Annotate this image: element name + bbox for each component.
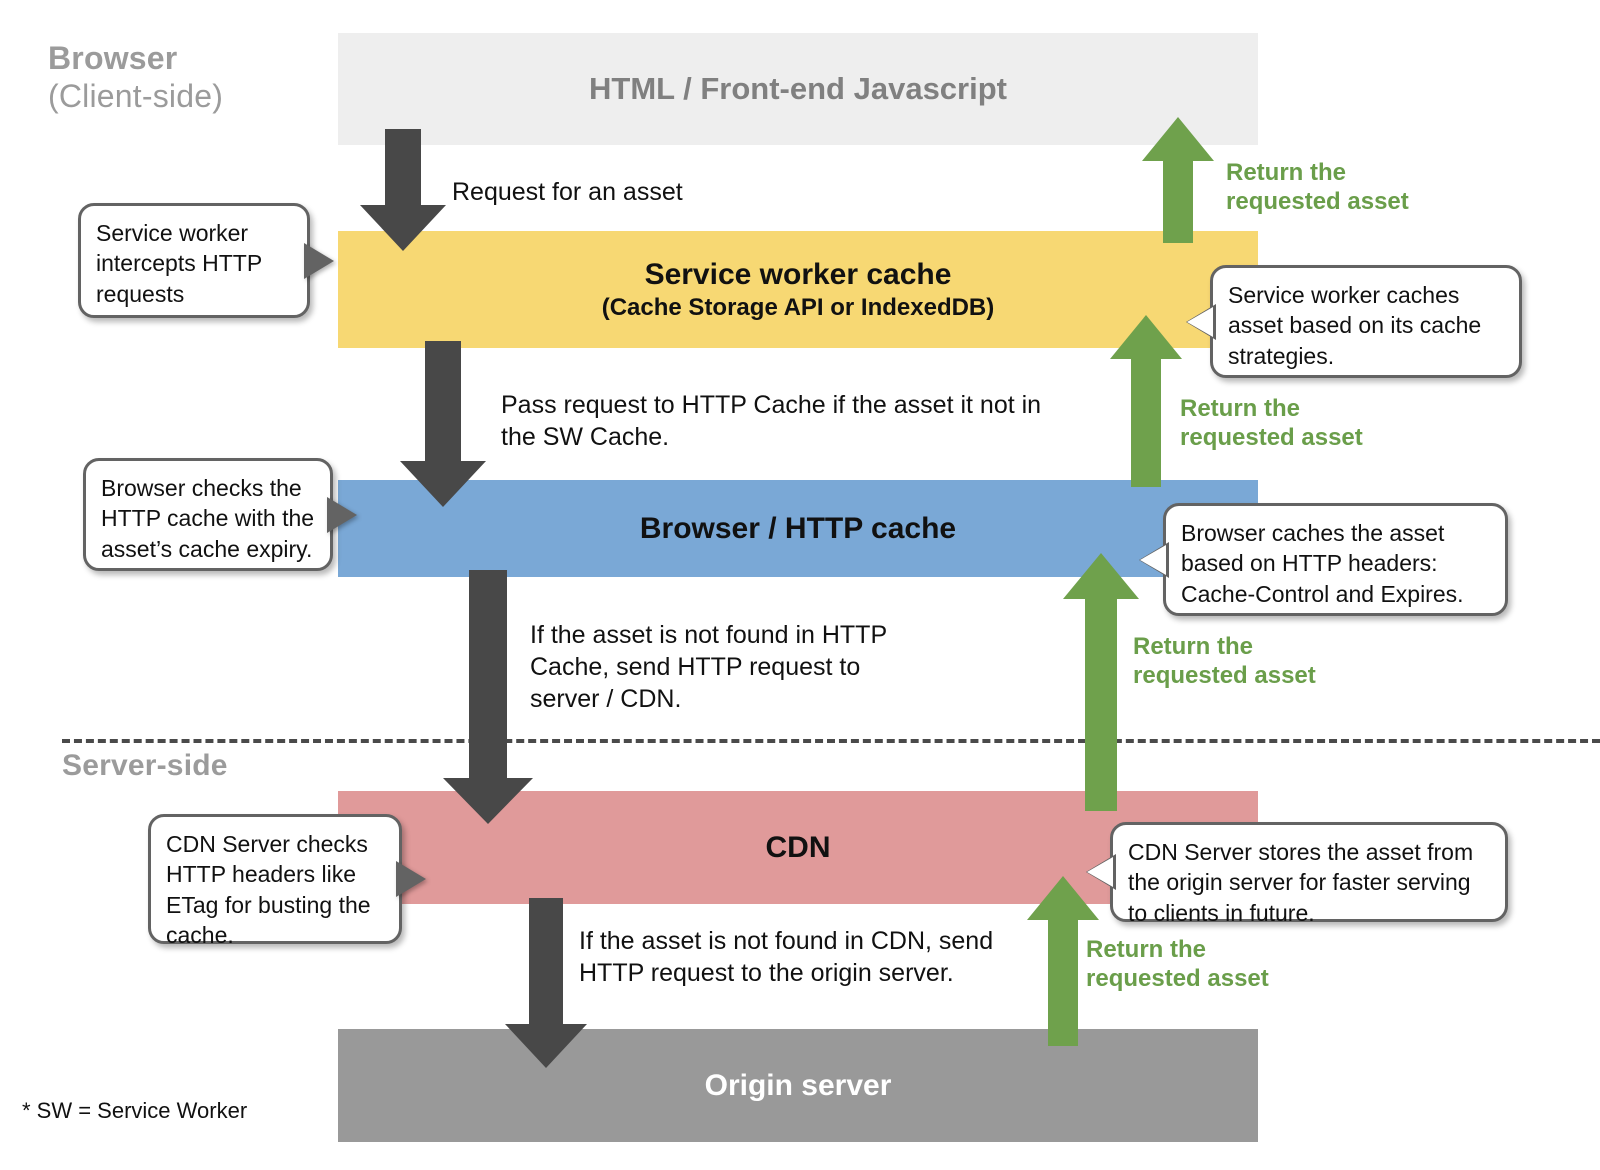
callout-cdn-checks-text: CDN Server checks HTTP headers like ETag… [166,831,371,948]
down-arrow-sw-to-http [400,341,486,507]
zone-label-client-title: Browser [48,40,177,76]
return-label-http-to-sw-line1: Return the [1180,395,1300,422]
footnote-sw-abbreviation: * SW = Service Worker [22,1098,247,1124]
client-server-divider [62,739,1600,743]
return-label-cdn-to-http: Return the requested asset [1133,633,1316,691]
callout-sw-caches[interactable]: Service worker caches asset based on its… [1210,265,1522,378]
callout-tail-icon [1140,545,1166,575]
return-label-sw-to-html-line2: requested asset [1226,188,1409,215]
return-label-origin-to-cdn-line1: Return the [1086,936,1206,963]
callout-browser-checks-text: Browser checks the HTTP cache with the a… [101,475,314,562]
return-label-http-to-sw-line2: requested asset [1180,424,1363,451]
return-label-cdn-to-http-line2: requested asset [1133,662,1316,689]
down-arrow-cdn-to-origin [505,898,587,1068]
callout-cdn-stores[interactable]: CDN Server stores the asset from the ori… [1110,822,1508,922]
flow-label-request-for-an-asset: Request for an asset [452,176,952,208]
return-label-sw-to-html: Return the requested asset [1226,159,1409,217]
layer-subtitle-service-worker-cache: (Cache Storage API or IndexedDB) [602,294,995,322]
callout-tail-icon [330,500,356,530]
layer-title-html: HTML / Front-end Javascript [589,72,1007,107]
return-label-origin-to-cdn-line2: requested asset [1086,965,1269,992]
zone-label-client-subtitle: (Client-side) [48,78,223,116]
return-label-sw-to-html-line1: Return the [1226,159,1346,186]
zone-label-server-title: Server-side [62,749,228,782]
callout-tail-icon [1087,857,1113,887]
down-arrow-http-to-cdn [443,570,533,824]
zone-label-server: Server-side [62,748,228,783]
layer-title-cdn: CDN [766,831,831,865]
flow-label-pass-to-http-cache: Pass request to HTTP Cache if the asset … [501,389,1081,453]
flow-label-http-to-cdn: If the asset is not found in HTTP Cache,… [530,619,920,715]
callout-sw-caches-text: Service worker caches asset based on its… [1228,282,1481,369]
callout-cdn-stores-text: CDN Server stores the asset from the ori… [1128,839,1473,926]
return-label-cdn-to-http-line1: Return the [1133,633,1253,660]
layer-title-origin-server: Origin server [705,1069,892,1103]
callout-sw-intercepts-text: Service worker intercepts HTTP requests [96,220,262,307]
up-arrow-cdn-to-http [1063,553,1139,811]
callout-browser-caches[interactable]: Browser caches the asset based on HTTP h… [1163,503,1508,616]
callout-tail-icon [307,246,333,276]
return-label-http-to-sw: Return the requested asset [1180,395,1363,453]
callout-browser-caches-text: Browser caches the asset based on HTTP h… [1181,520,1464,607]
callout-cdn-checks[interactable]: CDN Server checks HTTP headers like ETag… [148,814,402,944]
down-arrow-html-to-sw [360,129,446,251]
layer-bar-origin-server: Origin server [338,1029,1258,1142]
layer-bar-html: HTML / Front-end Javascript [338,33,1258,145]
up-arrow-http-to-sw [1110,315,1182,487]
layer-title-service-worker-cache: Service worker cache [602,258,995,292]
flow-label-cdn-to-origin: If the asset is not found in CDN, send H… [579,925,1009,989]
up-arrow-sw-to-html [1142,117,1214,243]
layer-title-browser-http-cache: Browser / HTTP cache [640,512,956,546]
callout-tail-icon [399,864,425,894]
zone-label-client: Browser (Client-side) [48,40,223,116]
callout-browser-checks[interactable]: Browser checks the HTTP cache with the a… [83,458,333,571]
diagram-canvas: Browser (Client-side) Server-side HTML /… [0,0,1600,1170]
return-label-origin-to-cdn: Return the requested asset [1086,936,1269,994]
callout-tail-icon [1187,307,1213,337]
callout-sw-intercepts[interactable]: Service worker intercepts HTTP requests [78,203,310,318]
